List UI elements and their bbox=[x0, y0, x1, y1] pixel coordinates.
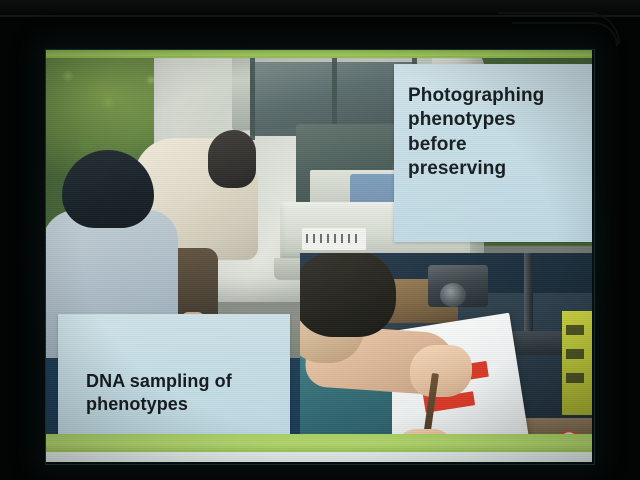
photo-lab-copystand bbox=[300, 253, 592, 452]
lab-camera-lens bbox=[440, 283, 466, 307]
hanging-cable-secondary bbox=[512, 22, 618, 46]
projection-screen: Photographing phenotypes before preservi… bbox=[46, 50, 592, 462]
caption-line-2: phenotypes bbox=[408, 108, 580, 132]
room-scene: Photographing phenotypes before preservi… bbox=[0, 0, 640, 480]
copystand-column bbox=[524, 253, 533, 337]
yellow-case-slot-1 bbox=[566, 325, 584, 335]
caption-panel-photographing: Photographing phenotypes before preservi… bbox=[394, 64, 592, 242]
caption-line-2: phenotypes bbox=[86, 393, 280, 416]
suv-pillar-left bbox=[250, 58, 255, 140]
caption-panel-dna-sampling: DNA sampling of phenotypes bbox=[58, 314, 290, 436]
caption-line-4: preserving bbox=[408, 157, 580, 181]
caption-line-1: Photographing bbox=[408, 84, 580, 108]
lab-person-hand bbox=[410, 345, 472, 397]
slide-bottom-white-strip bbox=[46, 452, 592, 462]
specimen-label-marks bbox=[306, 234, 358, 243]
yellow-case-slot-2 bbox=[566, 349, 584, 359]
slide-bottom-green-band bbox=[46, 434, 592, 452]
caption-line-3: before bbox=[408, 133, 580, 157]
yellow-case-slot-3 bbox=[566, 373, 584, 383]
caption-line-1: DNA sampling of bbox=[86, 370, 280, 393]
lab-person-hair bbox=[300, 253, 396, 337]
person-bending-hair bbox=[208, 130, 256, 188]
